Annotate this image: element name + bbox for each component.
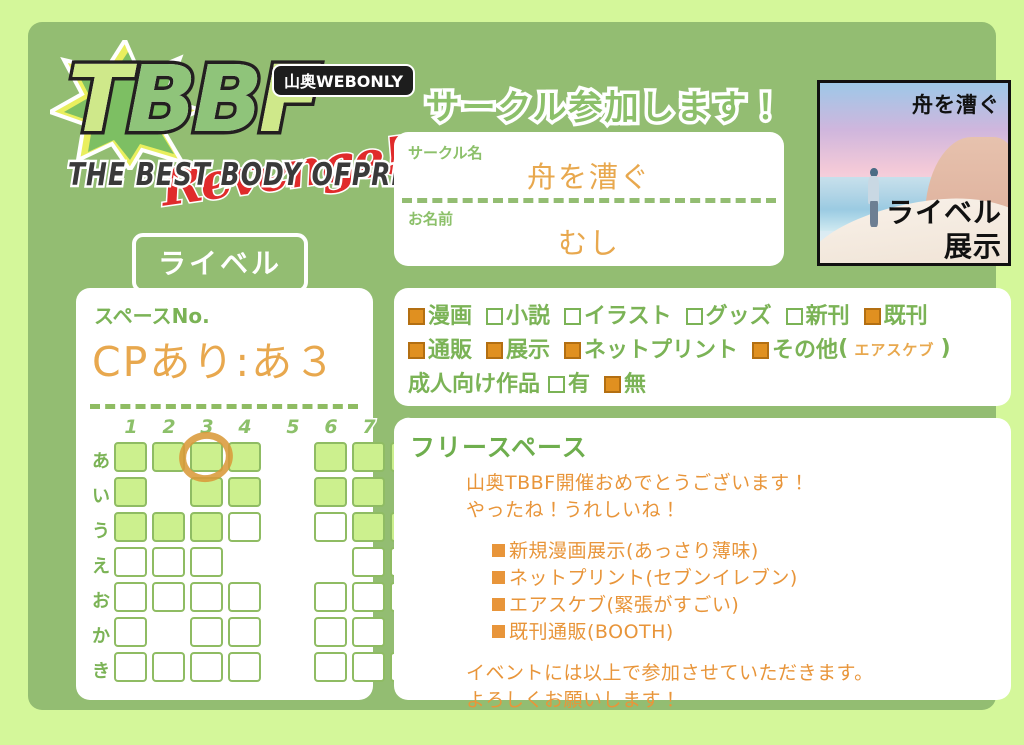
categories-panel: 漫画小説イラストグッズ新刊既刊 通販展示ネットプリントその他( エアスケブ ) … <box>394 288 1011 406</box>
map-cell[interactable] <box>152 652 185 682</box>
map-row-header: う <box>90 517 112 543</box>
map-column-header: 7 <box>351 416 387 438</box>
map-cell[interactable] <box>190 652 223 682</box>
space-number-panel: スペースNo. CPあり:あ３ 12345678あいうえおかき <box>76 288 373 700</box>
webonly-badge: 山奥WEBONLY <box>272 64 415 97</box>
checkbox-item[interactable]: 新刊 <box>786 298 850 330</box>
map-cell[interactable] <box>228 477 261 507</box>
checkbox-checked-icon[interactable] <box>864 308 881 325</box>
map-column-header: 6 <box>313 416 349 438</box>
checkbox-item[interactable]: 小説 <box>486 298 550 330</box>
checkbox-checked-icon[interactable] <box>408 342 425 359</box>
person-name-value: むし <box>394 220 784 262</box>
checkbox-item[interactable]: 無 <box>604 366 646 398</box>
map-cell[interactable] <box>114 652 147 682</box>
free-space-intro-2: やったね！うれしいね！ <box>466 497 874 524</box>
checkbox-unchecked-icon[interactable] <box>564 308 581 325</box>
free-space-item-label: 新規漫画展示(あっさり薄味) <box>509 540 759 562</box>
free-space-item-label: エアスケブ(緊張がすごい) <box>509 594 739 616</box>
free-space-panel: フリースペース 山奥TBBF開催おめでとうございます！ やったね！うれしいね！ … <box>394 418 1011 700</box>
map-column-header: 4 <box>227 416 263 438</box>
map-cell[interactable] <box>114 582 147 612</box>
map-cell[interactable] <box>228 652 261 682</box>
checkbox-item[interactable]: 既刊 <box>864 298 928 330</box>
checkbox-unchecked-icon[interactable] <box>686 308 703 325</box>
map-cell[interactable] <box>352 547 385 577</box>
map-cell[interactable] <box>352 582 385 612</box>
map-cell[interactable] <box>352 617 385 647</box>
free-space-item-list: 新規漫画展示(あっさり薄味)ネットプリント(セブンイレブン)エアスケブ(緊張がす… <box>492 538 874 646</box>
logo-letter-t: T <box>68 46 127 153</box>
other-value-group: ( エアスケブ ) <box>838 336 951 361</box>
map-cell[interactable] <box>314 652 347 682</box>
other-paren-close: ) <box>941 336 951 361</box>
checkbox-checked-icon[interactable] <box>564 342 581 359</box>
genre-tag: ライベル <box>132 233 308 293</box>
free-space-item: 既刊通販(BOOTH) <box>492 619 874 646</box>
bullet-square-icon <box>492 571 505 584</box>
checkbox-checked-icon[interactable] <box>604 376 621 393</box>
checkbox-item[interactable]: 有 <box>548 366 590 398</box>
map-row-header: え <box>90 552 112 578</box>
free-space-item-label: ネットプリント(セブンイレブン) <box>509 567 798 589</box>
map-cell[interactable] <box>352 652 385 682</box>
event-logo: TBBF Revenge! THE BEST BODY OFPREVER <box>42 32 402 202</box>
map-cell[interactable] <box>114 512 147 542</box>
map-cell[interactable] <box>190 512 223 542</box>
checkbox-item[interactable]: その他 <box>752 332 838 364</box>
checkbox-unchecked-icon[interactable] <box>548 376 565 393</box>
bullet-square-icon <box>492 625 505 638</box>
panel-divider <box>90 404 358 409</box>
artwork-figure <box>865 168 882 226</box>
category-row-3: 成人向け作品有無 <box>408 366 660 398</box>
map-cell[interactable] <box>314 582 347 612</box>
map-column-header: 5 <box>275 416 311 438</box>
category-row-1: 漫画小説イラストグッズ新刊既刊 <box>408 298 942 330</box>
map-cell[interactable] <box>152 512 185 542</box>
checkbox-label: 有 <box>568 372 590 397</box>
adult-content-label: 成人向け作品 <box>408 366 540 398</box>
map-row-header: お <box>90 587 112 613</box>
checkbox-label: 無 <box>624 372 646 397</box>
checkbox-checked-icon[interactable] <box>752 342 769 359</box>
map-cell[interactable] <box>190 582 223 612</box>
map-cell[interactable] <box>314 512 347 542</box>
artwork-exhibit-text: 展示 <box>944 225 1002 265</box>
free-space-intro-1: 山奥TBBF開催おめでとうございます！ <box>466 470 874 497</box>
map-cell[interactable] <box>114 617 147 647</box>
checkbox-label: 漫画 <box>428 304 472 329</box>
checkbox-item[interactable]: 展示 <box>486 332 550 364</box>
free-space-title: フリースペース <box>410 428 588 464</box>
participation-card: TBBF Revenge! THE BEST BODY OFPREVER 山奥W… <box>28 22 996 710</box>
checkbox-item[interactable]: ネットプリント <box>564 332 738 364</box>
map-row-header: か <box>90 622 112 648</box>
logo-letter-b1: B <box>127 46 193 153</box>
map-cell[interactable] <box>314 442 347 472</box>
checkbox-unchecked-icon[interactable] <box>486 308 503 325</box>
checkbox-label: ネットプリント <box>584 338 738 363</box>
checkbox-label: 展示 <box>506 338 550 363</box>
bullet-square-icon <box>492 598 505 611</box>
checkbox-label: 既刊 <box>884 304 928 329</box>
page-title: サークル参加します！ <box>412 80 798 129</box>
checkbox-label: 通販 <box>428 338 472 363</box>
checkbox-checked-icon[interactable] <box>486 342 503 359</box>
map-cell[interactable] <box>352 442 385 472</box>
map-cell[interactable] <box>352 477 385 507</box>
checkbox-label: グッズ <box>706 304 772 329</box>
map-cell[interactable] <box>228 512 261 542</box>
namebox-divider <box>402 198 776 203</box>
free-space-item: エアスケブ(緊張がすごい) <box>492 592 874 619</box>
map-cell[interactable] <box>228 582 261 612</box>
map-column-header: 1 <box>113 416 149 438</box>
logo-subtitle: THE BEST BODY OFPREVER <box>68 156 408 192</box>
circle-info-box: サークル名 舟を漕ぐ お名前 むし <box>394 132 784 266</box>
category-row-2: 通販展示ネットプリントその他( エアスケブ ) <box>408 332 965 364</box>
free-space-closing-1: イベントには以上で参加させていただきます。 <box>466 660 874 687</box>
artwork-title-text: 舟を漕ぐ <box>912 89 1000 119</box>
checkbox-unchecked-icon[interactable] <box>786 308 803 325</box>
map-cell[interactable] <box>114 547 147 577</box>
checkbox-label: その他 <box>772 338 838 363</box>
checkbox-label: 小説 <box>506 304 550 329</box>
map-cell[interactable] <box>114 442 147 472</box>
map-cell[interactable] <box>190 617 223 647</box>
checkbox-label: イラスト <box>584 304 672 329</box>
space-number-value: CPあり:あ３ <box>92 328 337 388</box>
map-cell[interactable] <box>352 512 385 542</box>
map-cell[interactable] <box>190 547 223 577</box>
map-cell[interactable] <box>314 477 347 507</box>
free-space-body: 山奥TBBF開催おめでとうございます！ やったね！うれしいね！ 新規漫画展示(あ… <box>466 470 874 714</box>
map-row-header: い <box>90 482 112 508</box>
free-space-item: ネットプリント(セブンイレブン) <box>492 565 874 592</box>
map-cell[interactable] <box>314 617 347 647</box>
other-value-text: エアスケブ <box>848 341 940 359</box>
checkbox-item[interactable]: イラスト <box>564 298 672 330</box>
checkbox-item[interactable]: グッズ <box>686 298 772 330</box>
logo-letter-b2: B <box>193 46 259 153</box>
checkbox-label: 新刊 <box>806 304 850 329</box>
space-number-label: スペースNo. <box>94 300 210 329</box>
map-cell[interactable] <box>114 477 147 507</box>
map-row-header: き <box>90 657 112 683</box>
map-row-header: あ <box>90 447 112 473</box>
checkbox-checked-icon[interactable] <box>408 308 425 325</box>
checkbox-item[interactable]: 通販 <box>408 332 472 364</box>
circle-name-value: 舟を漕ぐ <box>394 154 784 196</box>
circle-artwork: 舟を漕ぐ ライベル 展示 <box>817 80 1011 266</box>
map-cell[interactable] <box>152 547 185 577</box>
map-column-header: 2 <box>151 416 187 438</box>
free-space-item-label: 既刊通販(BOOTH) <box>509 621 674 643</box>
map-cell[interactable] <box>228 617 261 647</box>
map-cell[interactable] <box>152 582 185 612</box>
bullet-square-icon <box>492 544 505 557</box>
other-paren-open: ( <box>838 336 848 361</box>
free-space-item: 新規漫画展示(あっさり薄味) <box>492 538 874 565</box>
free-space-closing-2: よろしくお願いします！ <box>466 687 874 714</box>
checkbox-item[interactable]: 漫画 <box>408 298 472 330</box>
